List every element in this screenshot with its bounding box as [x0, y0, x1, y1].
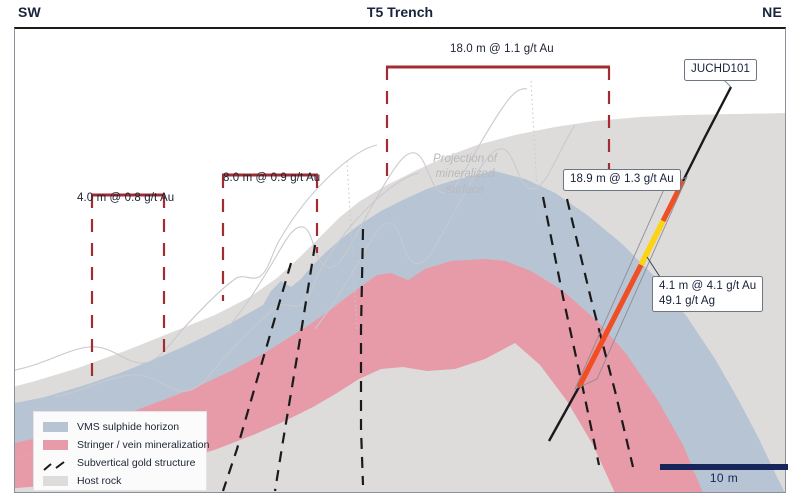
hostrock-swatch — [43, 476, 68, 486]
legend-item-stringer: Stringer / vein mineralization — [43, 436, 206, 454]
legend-label-hostrock: Host rock — [77, 475, 121, 487]
intercept-callout-2-line2: 49.1 g/t Ag — [659, 294, 756, 309]
figure-header: SW T5 Trench NE — [0, 0, 800, 27]
legend-panel: VMS sulphide horizon Stringer / vein min… — [33, 411, 207, 491]
projection-caption-line3: surface — [433, 183, 497, 198]
projection-caption-line2: mineralized — [433, 167, 497, 182]
structure-swatch — [43, 458, 68, 468]
legend-label-structure: Subvertical gold structure — [77, 457, 195, 469]
projection-caption: Projection of mineralized surface — [433, 152, 497, 198]
interval-1-label: 4.0 m @ 0.8 g/t Au — [77, 192, 174, 204]
scale-bar-line — [660, 464, 788, 470]
scale-bar: 10 m — [660, 464, 788, 485]
intercept-callout-1[interactable]: 18.9 m @ 1.3 g/t Au — [563, 169, 681, 191]
vms-swatch — [43, 422, 68, 432]
legend-label-stringer: Stringer / vein mineralization — [77, 439, 209, 451]
intercept-callout-2[interactable]: 4.1 m @ 4.1 g/t Au 49.1 g/t Ag — [652, 276, 763, 312]
dashed-structure-icon — [43, 461, 68, 471]
drillhole-callout-juchd101[interactable]: JUCHD101 — [684, 59, 757, 81]
scale-bar-label: 10 m — [660, 471, 788, 485]
stringer-swatch — [43, 440, 68, 450]
interval-2-label: 8.0 m @ 0.9 g/t Au — [223, 172, 320, 184]
legend-item-structure: Subvertical gold structure — [43, 454, 206, 472]
interval-3-label: 18.0 m @ 1.1 g/t Au — [450, 43, 554, 55]
legend-label-vms: VMS sulphide horizon — [77, 421, 179, 433]
projection-caption-line1: Projection of — [433, 152, 497, 167]
intercept-callout-2-line1: 4.1 m @ 4.1 g/t Au — [659, 279, 756, 294]
trench-cross-section-figure: SW T5 Trench NE — [0, 0, 800, 502]
page-title: T5 Trench — [0, 4, 800, 20]
legend-item-hostrock: Host rock — [43, 472, 206, 490]
direction-label-ne: NE — [762, 4, 782, 20]
legend-item-vms: VMS sulphide horizon — [43, 418, 206, 436]
